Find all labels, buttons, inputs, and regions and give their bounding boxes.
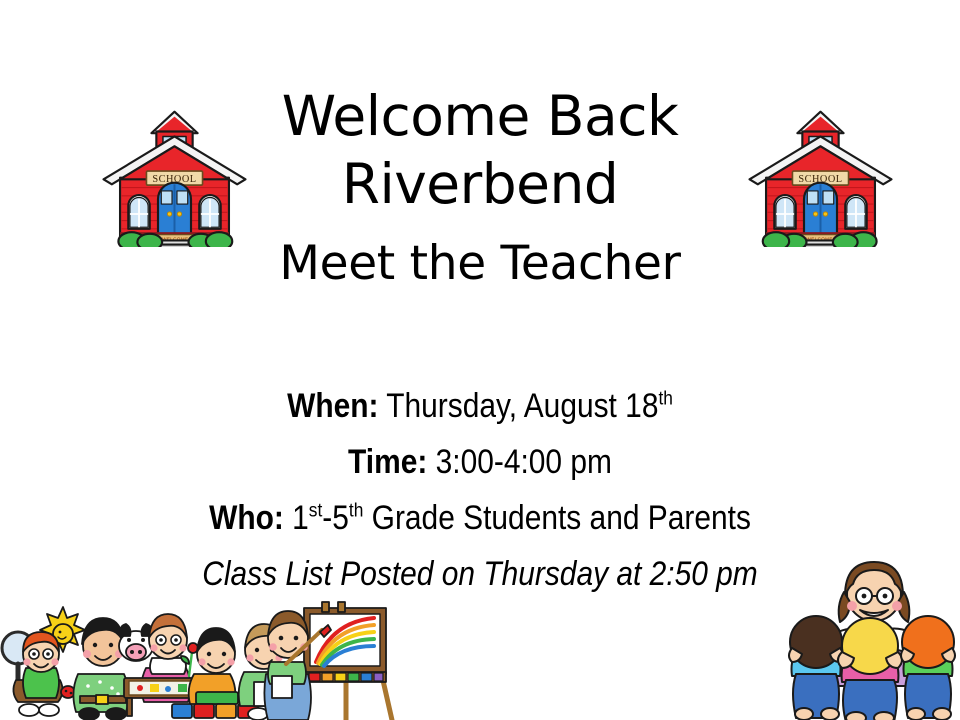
subtitle: Meet the Teacher (230, 234, 730, 294)
schoolhouse-left-icon: SCHOOL (92, 82, 257, 247)
detail-line-when: When: Thursday, August 18th (58, 378, 903, 434)
class-list-note: Class List Posted on Thursday at 2:50 pm (58, 546, 903, 602)
teacher-reading-to-children-clipart (786, 556, 960, 720)
detail-value-when: Thursday, August 18 (378, 387, 658, 425)
title-line-2: Riverbend (230, 150, 730, 218)
detail-line-time: Time: 3:00-4:00 pm (58, 434, 903, 490)
detail-superscript-who-1: st (309, 500, 322, 522)
title-line-1: Welcome Back (230, 82, 730, 150)
child-painting-rainbow-clipart (262, 600, 402, 720)
children-activities-clipart (0, 596, 296, 720)
title-block: Welcome Back Riverbend Meet the Teacher (230, 82, 730, 294)
slide-canvas: Welcome Back Riverbend Meet the Teacher … (0, 0, 960, 720)
detail-label-who: Who: (209, 499, 284, 537)
schoolhouse-right-icon: SCHOOL (738, 82, 903, 247)
detail-superscript-when: th (658, 388, 672, 410)
detail-line-who: Who: 1st-5th Grade Students and Parents (58, 490, 903, 546)
detail-label-time: Time: (348, 443, 427, 481)
detail-value-who-a: 1 (284, 499, 309, 537)
detail-value-who-c: Grade Students and Parents (363, 499, 751, 537)
detail-superscript-who-2: th (349, 500, 363, 522)
detail-label-when: When: (287, 387, 378, 425)
detail-value-time: 3:00-4:00 pm (427, 443, 612, 481)
detail-value-who-b: -5 (322, 499, 349, 537)
